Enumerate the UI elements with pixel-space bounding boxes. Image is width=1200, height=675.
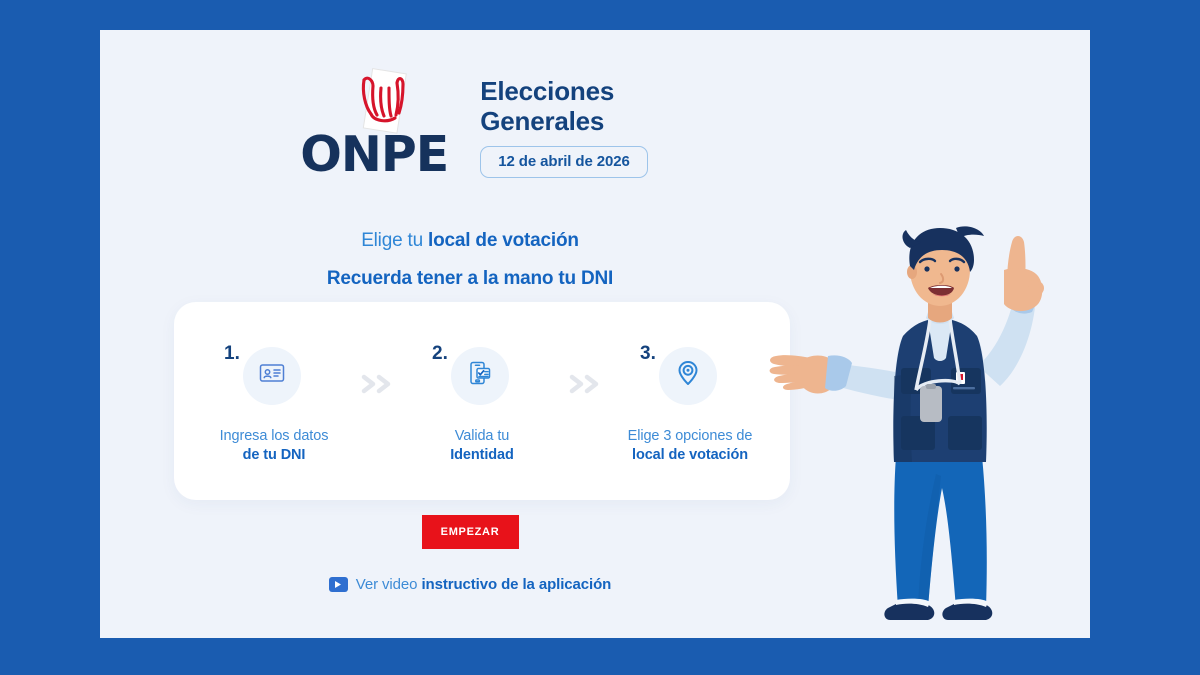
step-1-label-bold: de tu DNI	[198, 446, 350, 465]
step-1-number: 1.	[224, 343, 240, 365]
step-3-label-light: Elige 3 opciones de	[628, 428, 753, 444]
video-link-text-light: Ver video	[356, 576, 422, 593]
main-panel: ONPE Elecciones Generales 12 de abril de…	[100, 30, 1090, 638]
step-3-label: Elige 3 opciones de local de votación	[614, 427, 766, 465]
step-1: 1.	[198, 337, 350, 465]
step-2-label: Valida tu Identidad	[406, 427, 558, 465]
empezar-button[interactable]: EMPEZAR	[422, 515, 519, 549]
step-1-top: 1.	[198, 343, 350, 405]
onpe-wordmark: ONPE	[300, 126, 448, 183]
play-icon[interactable]	[329, 577, 348, 592]
step-2: 2.	[406, 337, 558, 465]
phone-check-icon	[466, 359, 494, 392]
step-2-label-light: Valida tu	[455, 428, 509, 444]
steps-row: 1.	[198, 337, 766, 465]
step-1-label-light: Ingresa los datos	[220, 428, 329, 444]
election-date-badge: 12 de abril de 2026	[480, 146, 648, 178]
subtitles: Elige tu local de votación Recuerda tene…	[100, 230, 840, 290]
id-card-icon	[258, 359, 286, 392]
step-3: 3. Elige 3 opciones de local de v	[614, 337, 766, 465]
chevron-separator-2	[558, 337, 614, 395]
title-line-2: Generales	[480, 106, 648, 136]
step-3-number: 3.	[640, 343, 656, 365]
video-instructions-link[interactable]: Ver video instructivo de la aplicación	[100, 576, 840, 593]
step-3-top: 3.	[614, 343, 766, 405]
step-1-label: Ingresa los datos de tu DNI	[198, 427, 350, 465]
chevron-separator-1	[350, 337, 406, 395]
step-2-top: 2.	[406, 343, 558, 405]
step-3-icon-bubble	[659, 347, 717, 405]
step-2-icon-bubble	[451, 347, 509, 405]
step-2-label-bold: Identidad	[406, 446, 558, 465]
subtitle-primary-light: Elige tu	[361, 230, 428, 251]
subtitle-primary: Elige tu local de votación	[100, 230, 840, 252]
step-3-label-bold: local de votación	[614, 446, 766, 465]
step-2-number: 2.	[432, 343, 448, 365]
title-block: Elecciones Generales 12 de abril de 2026	[480, 66, 648, 178]
onpe-staff-character	[760, 208, 1090, 638]
step-1-icon-bubble	[243, 347, 301, 405]
map-pin-icon	[674, 359, 702, 392]
onpe-logo: ONPE	[292, 66, 462, 176]
video-link-text-bold: instructivo de la aplicación	[421, 576, 611, 593]
header: ONPE Elecciones Generales 12 de abril de…	[100, 66, 840, 178]
steps-card: 1.	[174, 302, 790, 500]
subtitle-secondary: Recuerda tener a la mano tu DNI	[100, 268, 840, 290]
video-link-text[interactable]: Ver video instructivo de la aplicación	[356, 576, 611, 593]
title-line-1: Elecciones	[480, 76, 648, 106]
subtitle-primary-bold: local de votación	[428, 230, 579, 251]
cta-wrap: EMPEZAR	[100, 515, 840, 549]
